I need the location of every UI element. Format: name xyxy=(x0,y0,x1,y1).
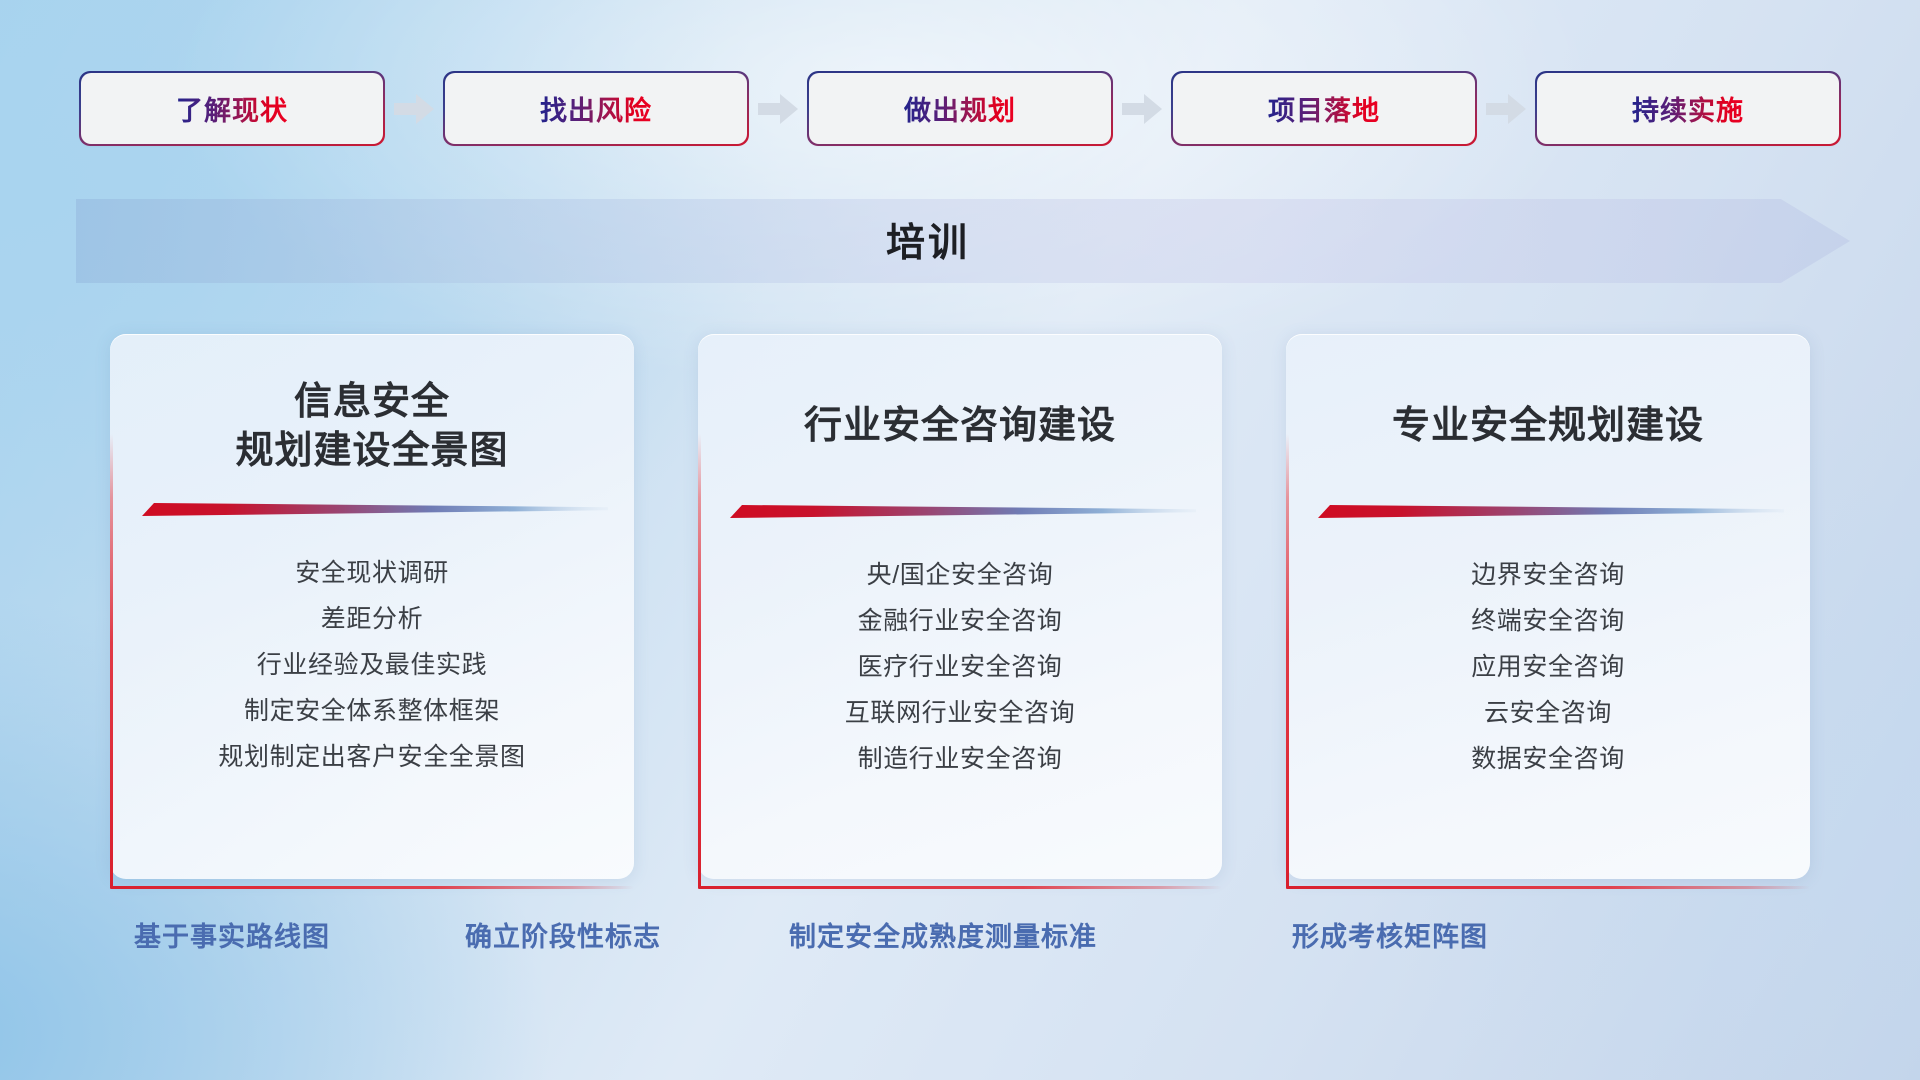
card-title: 专业安全规划建设 xyxy=(1392,402,1704,451)
process-step-label: 了解现状 xyxy=(176,89,288,128)
card-divider xyxy=(724,503,1196,519)
process-step-label: 项目落地 xyxy=(1268,89,1380,128)
card-item-list: 边界安全咨询 终端安全咨询 应用安全咨询 云安全咨询 数据安全咨询 xyxy=(1312,553,1784,783)
list-item: 互联网行业安全咨询 xyxy=(845,691,1075,737)
card-professional-security-planning[interactable]: 专业安全规划建设 xyxy=(1286,334,1810,879)
caption-maturity-standard: 制定安全成熟度测量标准 xyxy=(789,915,1097,954)
list-item: 制造行业安全咨询 xyxy=(858,737,1063,783)
chevron-right-arrow-icon xyxy=(383,94,445,124)
process-step-label: 做出规划 xyxy=(904,89,1016,128)
list-item: 金融行业安全咨询 xyxy=(858,599,1063,645)
banner-title: 培训 xyxy=(76,197,1850,283)
caption-assessment-matrix: 形成考核矩阵图 xyxy=(1292,915,1488,954)
process-step-3[interactable]: 做出规划 xyxy=(809,73,1111,144)
list-item: 差距分析 xyxy=(321,597,423,643)
training-banner: 培训 xyxy=(76,199,1850,283)
caption-milestones: 确立阶段性标志 xyxy=(465,915,661,954)
list-item: 应用安全咨询 xyxy=(1471,645,1625,691)
card-information-security-blueprint[interactable]: 信息安全 规划建设全景图 xyxy=(110,334,634,879)
card-divider xyxy=(1312,503,1784,519)
list-item: 云安全咨询 xyxy=(1484,691,1612,737)
card-industry-security-consulting[interactable]: 行业安全咨询建设 xyxy=(698,334,1222,879)
caption-roadmap: 基于事实路线图 xyxy=(134,915,330,954)
list-item: 安全现状调研 xyxy=(295,551,449,597)
process-step-1[interactable]: 了解现状 xyxy=(81,73,383,144)
card-item-list: 安全现状调研 差距分析 行业经验及最佳实践 制定安全体系整体框架 规划制定出客户… xyxy=(136,551,608,781)
card-title: 行业安全咨询建设 xyxy=(804,402,1116,451)
list-item: 央/国企安全咨询 xyxy=(867,553,1054,599)
chevron-right-arrow-icon xyxy=(747,94,809,124)
chevron-right-arrow-icon xyxy=(1111,94,1173,124)
slide-canvas: 了解现状 找出风险 做出规划 项目落地 xyxy=(0,0,1920,1080)
list-item: 终端安全咨询 xyxy=(1471,599,1625,645)
list-item: 行业经验及最佳实践 xyxy=(257,643,487,689)
caption-row: 基于事实路线图 确立阶段性标志 制定安全成熟度测量标准 形成考核矩阵图 xyxy=(0,915,1920,959)
list-item: 医疗行业安全咨询 xyxy=(858,645,1063,691)
process-step-5[interactable]: 持续实施 xyxy=(1537,73,1839,144)
list-item: 规划制定出客户安全全景图 xyxy=(218,735,525,781)
list-item: 制定安全体系整体框架 xyxy=(244,689,500,735)
card-title: 信息安全 规划建设全景图 xyxy=(235,378,508,475)
process-step-label: 持续实施 xyxy=(1632,89,1744,128)
process-step-label: 找出风险 xyxy=(540,89,652,128)
card-item-list: 央/国企安全咨询 金融行业安全咨询 医疗行业安全咨询 互联网行业安全咨询 制造行… xyxy=(724,553,1196,783)
list-item: 边界安全咨询 xyxy=(1471,553,1625,599)
process-step-2[interactable]: 找出风险 xyxy=(445,73,747,144)
process-step-bar: 了解现状 找出风险 做出规划 项目落地 xyxy=(0,73,1920,144)
list-item: 数据安全咨询 xyxy=(1471,737,1625,783)
chevron-right-arrow-icon xyxy=(1475,94,1537,124)
process-step-4[interactable]: 项目落地 xyxy=(1173,73,1475,144)
card-divider xyxy=(136,501,608,517)
card-row: 信息安全 规划建设全景图 xyxy=(0,334,1920,879)
